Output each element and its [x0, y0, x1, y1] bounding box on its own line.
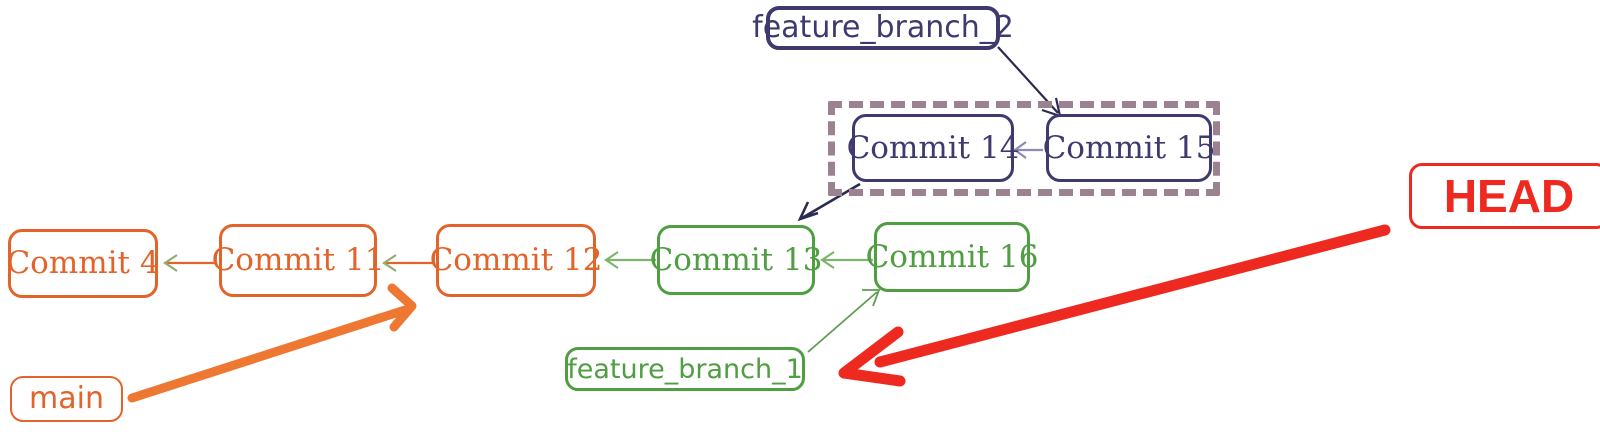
node-commit-12-label: Commit 12: [430, 245, 603, 276]
node-commit-15-label: Commit 15: [1043, 133, 1216, 164]
node-commit-13[interactable]: Commit 13: [657, 225, 815, 295]
edge-commit11-to-commit4: [165, 255, 216, 271]
branch-label-feature-branch-2-text: feature_branch_2: [752, 13, 1014, 43]
node-commit-13-label: Commit 13: [650, 245, 823, 276]
edge-main-to-commit12: [132, 288, 412, 398]
node-commit-11-label: Commit 11: [212, 245, 385, 276]
edge-commit13-to-commit12: [606, 252, 656, 268]
branch-label-feature-branch-1[interactable]: feature_branch_1: [565, 347, 805, 391]
node-commit-11[interactable]: Commit 11: [219, 224, 377, 297]
branch-label-main-text: main: [29, 384, 104, 414]
edge-commit12-to-commit11: [384, 255, 434, 271]
branch-label-feature-branch-1-text: feature_branch_1: [567, 356, 803, 383]
node-commit-16[interactable]: Commit 16: [874, 222, 1030, 292]
branch-label-head[interactable]: HEAD: [1409, 163, 1600, 229]
branch-label-main[interactable]: main: [10, 376, 123, 422]
git-branch-diagram: Commit 14 Commit 15 Commit 13 Commit 16 …: [0, 0, 1600, 447]
node-commit-12[interactable]: Commit 12: [436, 224, 596, 297]
node-commit-14[interactable]: Commit 14: [852, 114, 1014, 182]
node-commit-15[interactable]: Commit 15: [1046, 114, 1212, 182]
node-commit-14-label: Commit 14: [847, 133, 1020, 164]
branch-label-feature-branch-2[interactable]: feature_branch_2: [766, 6, 1000, 50]
node-commit-4-label: Commit 4: [6, 248, 159, 279]
edge-featurebranch1-to-commit16: [808, 290, 879, 352]
node-commit-16-label: Commit 16: [866, 242, 1039, 273]
node-commit-4[interactable]: Commit 4: [8, 229, 158, 298]
branch-label-head-text: HEAD: [1444, 173, 1574, 219]
